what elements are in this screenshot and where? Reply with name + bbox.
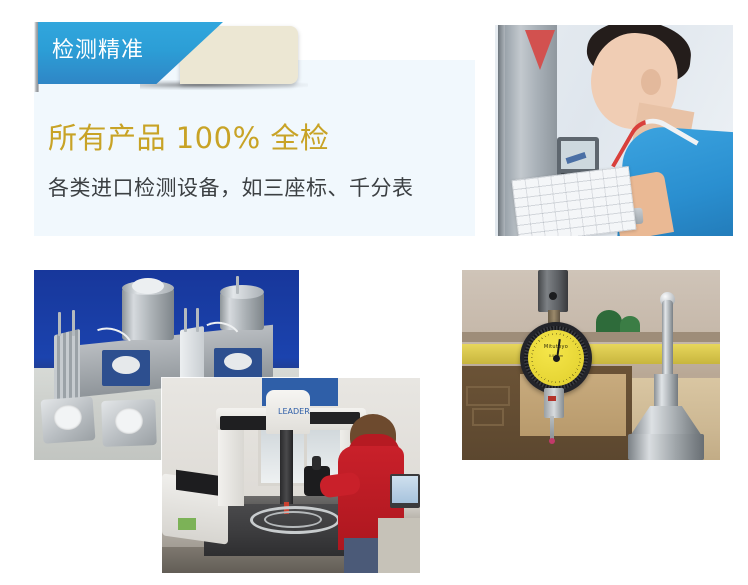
computer-monitor — [390, 474, 420, 508]
white-seal-left — [132, 278, 164, 294]
cmm-joystick-stick — [312, 456, 321, 470]
spindle-holder — [538, 270, 568, 312]
technician-ear — [641, 69, 661, 95]
height-gauge-edge — [498, 25, 505, 236]
tool-base-flange — [628, 434, 704, 460]
cylinder-cap — [220, 285, 264, 299]
measured-ring-inner — [264, 511, 322, 528]
subline-text: 各类进口检测设备，如三座标、千分表 — [48, 172, 414, 204]
dial-brand-label: Mitutoyo — [528, 344, 584, 350]
background-green-object-1 — [596, 310, 622, 334]
photo-dial-indicator: Mitutoyo 0.01mm — [462, 270, 720, 460]
guide-pin-c — [184, 308, 187, 332]
page-root: 检测精准 所有产品 100% 全检 各类进口检测设备，如三座标、千分表 — [0, 0, 748, 585]
tool-shank — [662, 300, 673, 380]
guide-pin-d — [196, 308, 199, 332]
cmm-green-label — [178, 518, 196, 530]
guide-pin-b — [72, 310, 75, 336]
dial-face: Mitutoyo 0.01mm — [528, 330, 584, 386]
cmm-bridge-leg-left — [218, 418, 244, 506]
dial-indicator-body: Mitutoyo 0.01mm — [520, 322, 592, 394]
cmm-brand-logo: LEADER — [278, 404, 298, 420]
flange-part-1 — [41, 396, 96, 444]
cylinder-assembly-left — [122, 288, 174, 340]
indicator-contact-block — [544, 388, 564, 418]
banner-title: 检测精准 — [52, 36, 144, 66]
background-shelf — [462, 332, 720, 342]
photo-cmm-machine: LEADER — [162, 378, 420, 573]
indicator-probe-tip — [550, 416, 554, 440]
cmm-carriage-head: LEADER — [266, 390, 310, 434]
fixture-slot-2 — [472, 408, 504, 426]
cylinder-rod-right — [236, 276, 239, 294]
flange-part-2 — [101, 399, 157, 447]
cmm-z-axis-column — [280, 430, 293, 504]
gauge-screen — [561, 141, 595, 169]
section-banner: 检测精准 — [30, 20, 305, 98]
guide-pin-a — [58, 312, 61, 336]
headline-text: 所有产品 100% 全检 — [48, 118, 329, 158]
computer-desk — [378, 518, 420, 573]
tool-mid-section — [654, 374, 678, 410]
top-section: 检测精准 所有产品 100% 全检 各类进口检测设备，如三座标、千分表 — [0, 0, 748, 250]
cmm-beam-rail-right — [302, 412, 360, 424]
dial-needle-hub — [553, 355, 560, 362]
fixture-slot — [466, 386, 510, 406]
photo-technician-height-gauge — [495, 25, 733, 236]
